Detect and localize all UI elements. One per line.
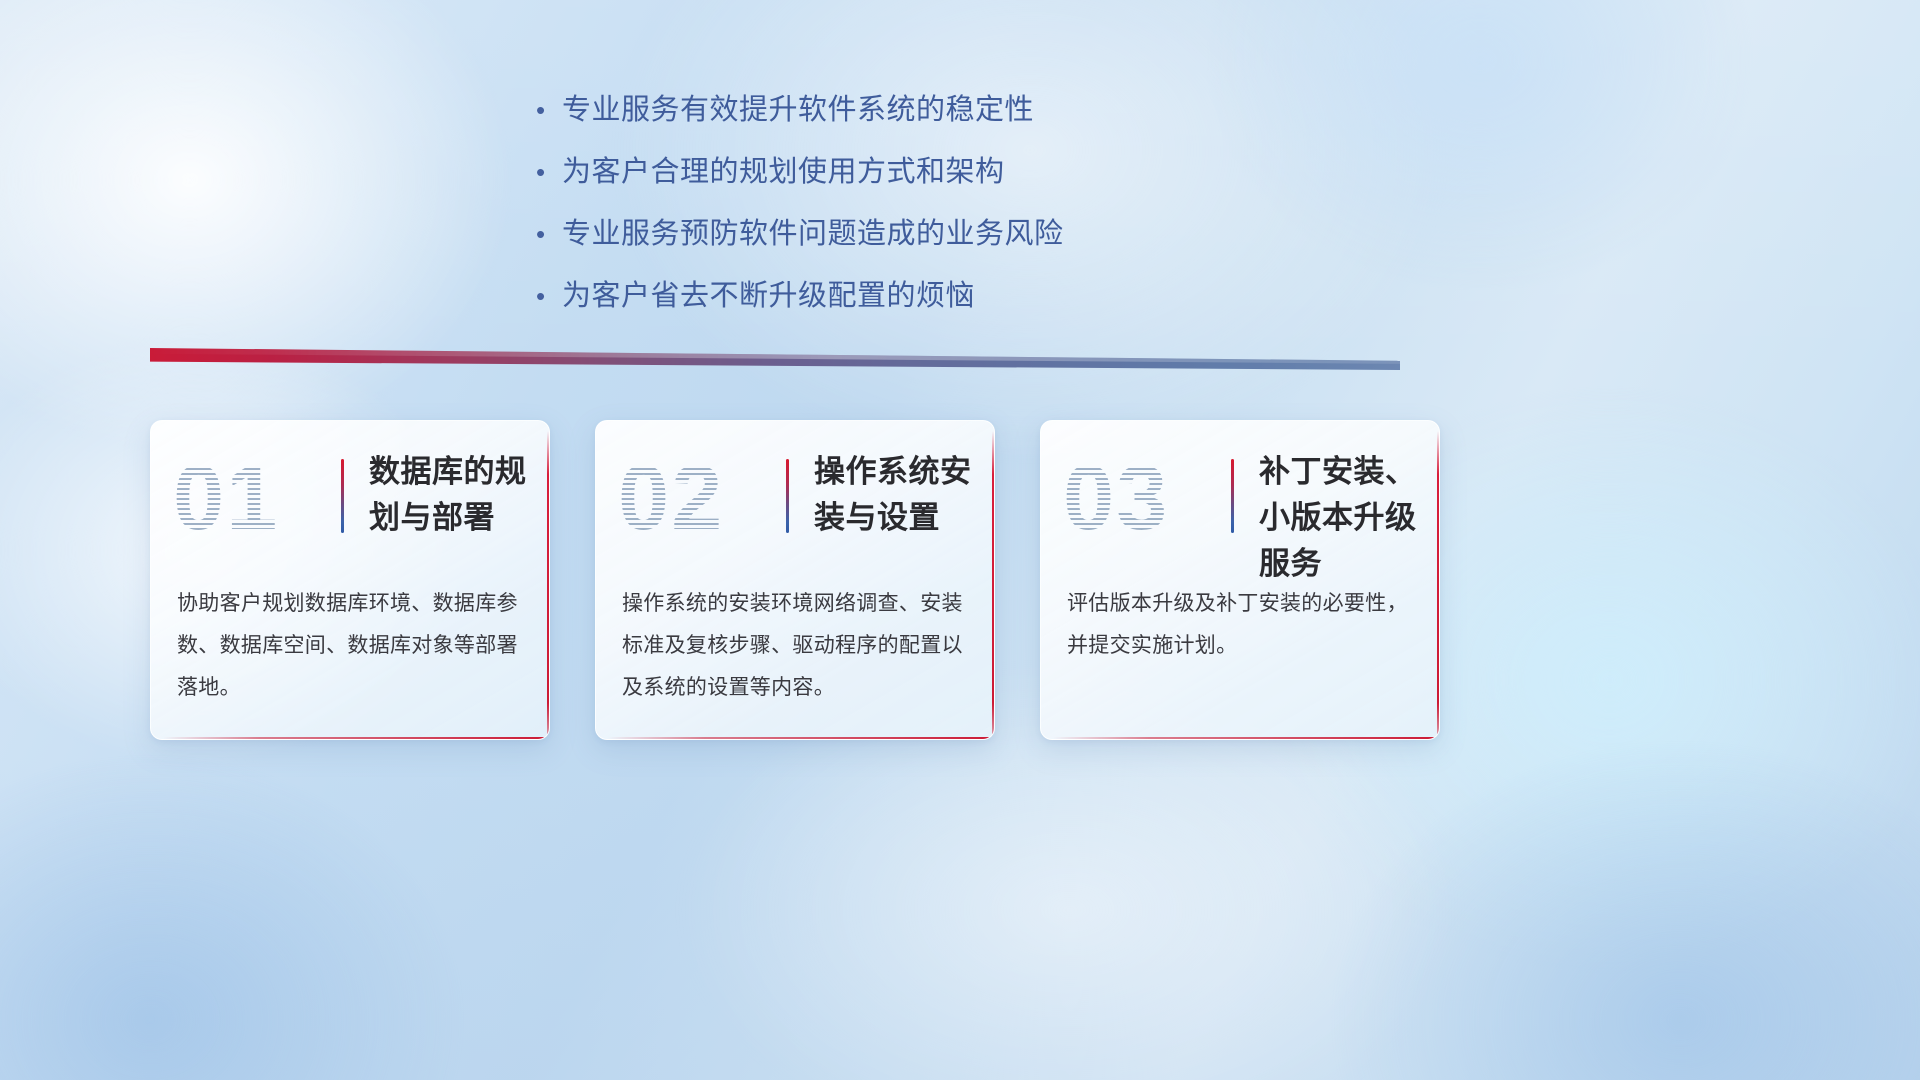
service-card[interactable]: 02 操作系统安装与设置 操作系统的安装环境网络调查、安装标准及复核步骤、驱动程… (595, 420, 995, 740)
card-accent-bottom (163, 737, 549, 740)
list-item: • 为客户省去不断升级配置的烦恼 (536, 274, 1396, 318)
card-accent-right (992, 431, 995, 740)
bullet-dot-icon: • (536, 212, 562, 256)
card-accent-right (1437, 431, 1440, 740)
bullet-text: 为客户合理的规划使用方式和架构 (562, 150, 1005, 194)
bullet-text: 为客户省去不断升级配置的烦恼 (562, 274, 975, 318)
card-title-accent-bar (1231, 459, 1234, 533)
service-card-group: 01 数据库的规划与部署 协助客户规划数据库环境、数据库参数、数据库空间、数据库… (150, 420, 1440, 740)
service-card[interactable]: 03 补丁安装、小版本升级服务 评估版本升级及补丁安装的必要性，并提交实施计划。 (1040, 420, 1440, 740)
card-title: 操作系统安装与设置 (814, 449, 978, 541)
card-header: 03 补丁安装、小版本升级服务 (1041, 421, 1439, 571)
card-body-text: 评估版本升级及补丁安装的必要性，并提交实施计划。 (1067, 583, 1413, 667)
card-number-watermark: 01 (173, 443, 279, 553)
bullet-dot-icon: • (536, 274, 562, 318)
card-body-text: 协助客户规划数据库环境、数据库参数、数据库空间、数据库对象等部署落地。 (177, 583, 523, 709)
card-title: 数据库的规划与部署 (369, 449, 533, 541)
bullet-dot-icon: • (536, 88, 562, 132)
section-divider (150, 348, 1400, 370)
bullet-text: 专业服务有效提升软件系统的稳定性 (562, 88, 1034, 132)
card-title-accent-bar (341, 459, 344, 533)
service-card[interactable]: 01 数据库的规划与部署 协助客户规划数据库环境、数据库参数、数据库空间、数据库… (150, 420, 550, 740)
card-number-watermark: 02 (618, 443, 724, 553)
card-header: 02 操作系统安装与设置 (596, 421, 994, 571)
list-item: • 专业服务有效提升软件系统的稳定性 (536, 88, 1396, 132)
card-number-watermark: 03 (1063, 443, 1169, 553)
card-title-accent-bar (786, 459, 789, 533)
card-body-text: 操作系统的安装环境网络调查、安装标准及复核步骤、驱动程序的配置以及系统的设置等内… (622, 583, 968, 709)
card-header: 01 数据库的规划与部署 (151, 421, 549, 571)
bullet-text: 专业服务预防软件问题造成的业务风险 (562, 212, 1064, 256)
bullet-dot-icon: • (536, 150, 562, 194)
list-item: • 专业服务预防软件问题造成的业务风险 (536, 212, 1396, 256)
card-accent-bottom (608, 737, 994, 740)
benefits-bullet-list: • 专业服务有效提升软件系统的稳定性 • 为客户合理的规划使用方式和架构 • 专… (536, 88, 1396, 336)
list-item: • 为客户合理的规划使用方式和架构 (536, 150, 1396, 194)
card-accent-right (547, 431, 550, 740)
card-title: 补丁安装、小版本升级服务 (1259, 449, 1423, 587)
card-accent-bottom (1053, 737, 1439, 740)
